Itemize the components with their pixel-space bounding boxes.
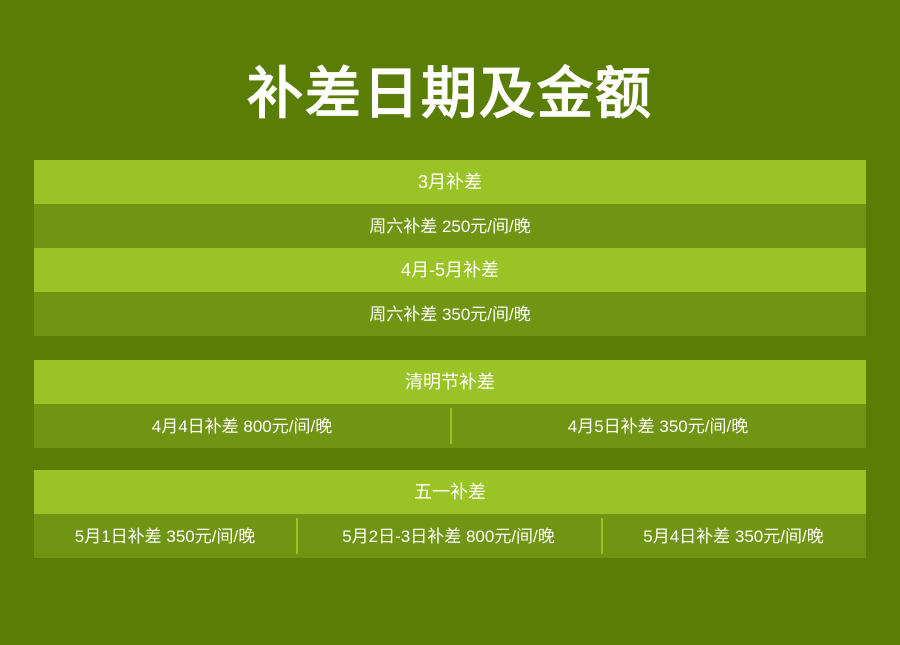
section-header-label: 3月补差 [34,160,866,204]
table-row: 周六补差 250元/间/晚 [34,204,866,248]
table-cell: 4月5日补差 350元/间/晚 [450,404,866,448]
table-cell: 周六补差 350元/间/晚 [34,292,866,336]
table-row: 3月补差 [34,160,866,204]
page-title: 补差日期及金额 [0,62,900,126]
section-header-label: 清明节补差 [34,360,866,404]
table-row: 五一补差 [34,470,866,514]
table-row: 清明节补差 [34,360,866,404]
table-cell: 5月1日补差 350元/间/晚 [34,514,296,558]
section-labor-day: 五一补差 5月1日补差 350元/间/晚 5月2日-3日补差 800元/间/晚 … [34,470,866,558]
section-header-label: 4月-5月补差 [34,248,866,292]
table-row: 周六补差 350元/间/晚 [34,292,866,336]
table-cell: 4月4日补差 800元/间/晚 [34,404,450,448]
price-supplement-poster: 补差日期及金额 3月补差 周六补差 250元/间/晚 4月-5月补差 周六补差 … [0,0,900,645]
table-cell: 5月4日补差 350元/间/晚 [601,514,866,558]
table-cell: 5月2日-3日补差 800元/间/晚 [296,514,601,558]
table-row: 4月4日补差 800元/间/晚 4月5日补差 350元/间/晚 [34,404,866,448]
section-march-april-may: 3月补差 周六补差 250元/间/晚 4月-5月补差 周六补差 350元/间/晚 [34,160,866,336]
section-header-label: 五一补差 [34,470,866,514]
table-row: 5月1日补差 350元/间/晚 5月2日-3日补差 800元/间/晚 5月4日补… [34,514,866,558]
table-cell: 周六补差 250元/间/晚 [34,204,866,248]
section-qingming-festival: 清明节补差 4月4日补差 800元/间/晚 4月5日补差 350元/间/晚 [34,360,866,448]
table-row: 4月-5月补差 [34,248,866,292]
